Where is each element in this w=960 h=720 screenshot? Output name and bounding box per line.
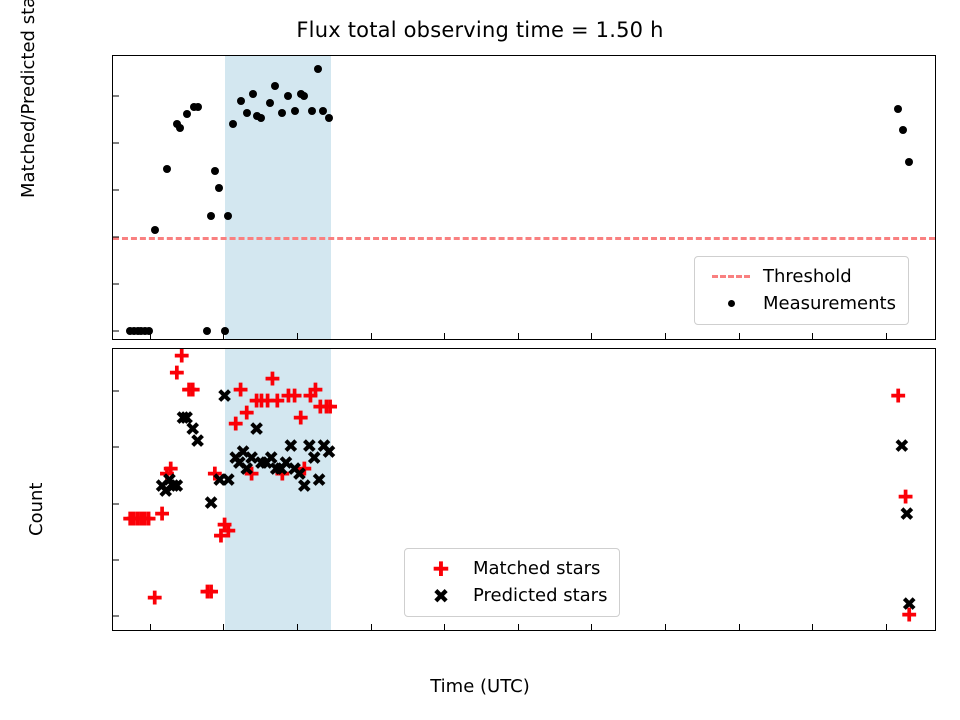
x-tick-mark (665, 333, 666, 339)
data-point-measurement (151, 226, 159, 234)
top-panel-legend[interactable]: Threshold Measurements (694, 256, 909, 325)
bottom-panel-y-axis-label: Count (26, 483, 47, 536)
data-point-predicted-star: ✖ (320, 444, 337, 461)
data-point-predicted-star: ✖ (220, 473, 237, 490)
figure-canvas: Flux total observing time = 1.50 h 0.000… (0, 0, 960, 720)
data-point-matched-star: ✚ (232, 383, 249, 400)
data-point-measurement (224, 212, 232, 220)
x-tick-label: 20:00 (273, 630, 322, 631)
data-point-predicted-star: ✖ (189, 433, 206, 450)
data-point-matched-star: ✚ (184, 383, 201, 400)
y-tick-mark (113, 503, 119, 504)
data-point-measurement (291, 107, 299, 115)
data-point-measurement (308, 107, 316, 115)
cross-icon: ✖ (415, 586, 467, 606)
x-tick-label: 00:00 (567, 630, 616, 631)
legend-label-matched-stars: Matched stars (467, 558, 600, 579)
legend-label-predicted-stars: Predicted stars (467, 585, 607, 606)
data-point-predicted-star: ✖ (203, 495, 220, 512)
x-tick-mark (886, 333, 887, 339)
x-tick-label: 18:00 (125, 630, 174, 631)
y-tick-mark (113, 331, 119, 332)
data-point-predicted-star: ✖ (168, 478, 185, 495)
x-tick-label: 21:00 (346, 630, 395, 631)
x-tick-label: 22:00 (420, 630, 469, 631)
data-point-measurement (211, 167, 219, 175)
data-point-matched-star: ✚ (286, 388, 303, 405)
dashed-line-icon (705, 275, 757, 278)
data-point-measurement (319, 107, 327, 115)
x-tick-label: 03:00 (788, 630, 837, 631)
data-point-predicted-star: ✖ (248, 422, 265, 439)
data-point-matched-star: ✚ (292, 411, 309, 428)
data-point-predicted-star: ✖ (898, 506, 915, 523)
x-tick-mark (591, 333, 592, 339)
data-point-predicted-star: ✖ (282, 439, 299, 456)
legend-item-threshold[interactable]: Threshold (705, 263, 896, 290)
data-point-matched-star: ✚ (146, 591, 163, 608)
data-point-predicted-star: ✖ (893, 439, 910, 456)
y-tick-mark (113, 237, 119, 238)
y-tick-mark (113, 142, 119, 143)
legend-item-predicted-stars[interactable]: ✖ Predicted stars (415, 582, 607, 609)
data-point-measurement (266, 99, 274, 107)
x-tick-mark (739, 333, 740, 339)
data-point-measurement (237, 97, 245, 105)
data-point-predicted-star: ✖ (216, 388, 233, 405)
data-point-predicted-star: ✖ (311, 473, 328, 490)
bottom-panel-legend[interactable]: ✚ Matched stars ✖ Predicted stars (404, 548, 620, 617)
legend-label-threshold: Threshold (757, 266, 852, 287)
x-tick-label: 19:00 (199, 630, 248, 631)
data-point-measurement (249, 90, 257, 98)
data-point-measurement (221, 327, 229, 335)
legend-item-measurements[interactable]: Measurements (705, 290, 896, 317)
data-point-measurement (905, 158, 913, 166)
data-point-matched-star: ✚ (890, 388, 907, 405)
data-point-matched-star: ✚ (203, 585, 220, 602)
data-point-measurement (257, 114, 265, 122)
data-point-measurement (243, 109, 251, 117)
x-tick-mark (812, 333, 813, 339)
y-tick-mark (113, 559, 119, 560)
data-point-measurement (229, 120, 237, 128)
top-panel-y-axis-label: Matched/Predicted stars (18, 0, 39, 198)
plus-icon: ✚ (415, 559, 467, 579)
y-tick-mark (113, 447, 119, 448)
x-tick-label: 02:00 (714, 630, 763, 631)
data-point-measurement (278, 109, 286, 117)
data-point-matched-star: ✚ (220, 523, 237, 540)
legend-item-matched-stars[interactable]: ✚ Matched stars (415, 555, 607, 582)
x-tick-label: 23:00 (493, 630, 542, 631)
data-point-measurement (314, 65, 322, 73)
x-tick-mark (444, 333, 445, 339)
x-tick-label: 04:00 (861, 630, 910, 631)
threshold-line (113, 237, 935, 240)
dot-icon (705, 300, 757, 307)
y-tick-mark (113, 95, 119, 96)
data-point-measurement (203, 327, 211, 335)
y-tick-mark (113, 391, 119, 392)
data-point-matched-star: ✚ (264, 371, 281, 388)
data-point-matched-star: ✚ (173, 349, 190, 366)
x-tick-mark (297, 333, 298, 339)
data-point-measurement (894, 105, 902, 113)
y-tick-mark (113, 189, 119, 190)
x-tick-mark (371, 333, 372, 339)
data-point-measurement (325, 114, 333, 122)
data-point-measurement (284, 92, 292, 100)
x-tick-label: 01:00 (641, 630, 690, 631)
data-point-matched-star: ✚ (154, 506, 171, 523)
data-point-measurement (215, 184, 223, 192)
data-point-measurement (207, 212, 215, 220)
data-point-measurement (899, 126, 907, 134)
legend-label-measurements: Measurements (757, 293, 896, 314)
y-tick-mark (113, 284, 119, 285)
data-point-matched-star: ✚ (322, 400, 339, 417)
figure-title: Flux total observing time = 1.50 h (0, 18, 960, 42)
data-point-predicted-star: ✖ (901, 596, 918, 613)
x-axis-label: Time (UTC) (0, 676, 960, 697)
data-point-measurement (145, 327, 153, 335)
data-point-measurement (176, 124, 184, 132)
data-point-measurement (163, 165, 171, 173)
data-point-measurement (194, 103, 202, 111)
y-tick-mark (113, 615, 119, 616)
data-point-measurement (183, 110, 191, 118)
data-point-measurement (300, 92, 308, 100)
x-tick-mark (518, 333, 519, 339)
data-point-measurement (271, 82, 279, 90)
